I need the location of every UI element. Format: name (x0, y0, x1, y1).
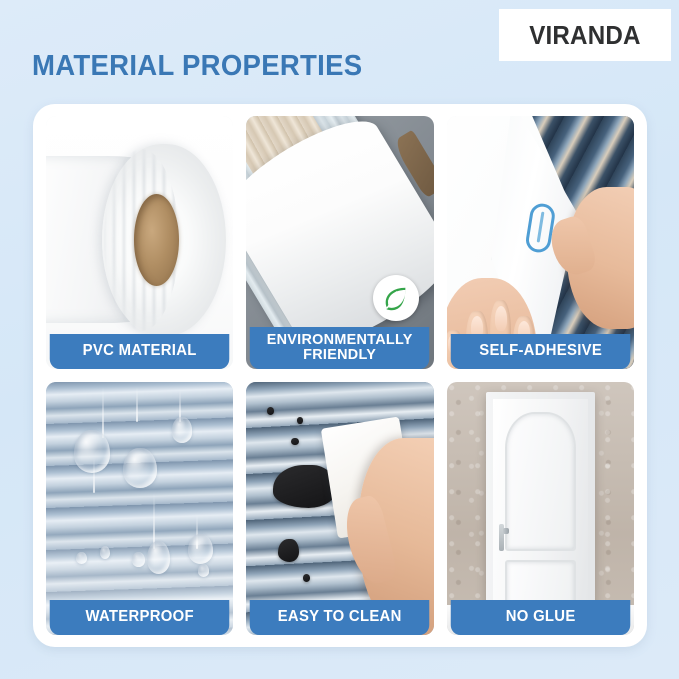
feature-card-waterproof[interactable]: WATERPROOF (46, 382, 233, 635)
leaf-icon (381, 283, 411, 313)
door-handle-icon (499, 524, 504, 551)
easy-to-clean-image (246, 382, 433, 635)
waterproof-image (46, 382, 233, 635)
feature-label-no-glue: NO GLUE (450, 600, 630, 635)
self-adhesive-image (447, 116, 634, 369)
door-frame (486, 392, 595, 625)
feature-card-pvc-material[interactable]: PVC MATERIAL (46, 116, 233, 369)
page-title: MATERIAL PROPERTIES (32, 50, 362, 83)
pvc-roll-image (46, 116, 233, 369)
feature-label-self-adhesive: SELF-ADHESIVE (450, 334, 630, 369)
feature-card-environmentally-friendly[interactable]: ENVIRONMENTALLY FRIENDLY (246, 116, 433, 369)
feature-card-easy-to-clean[interactable]: EASY TO CLEAN (246, 382, 433, 635)
feature-card-self-adhesive[interactable]: SELF-ADHESIVE (447, 116, 634, 369)
brand-logo-box: VIRANDA (499, 9, 671, 61)
features-grid: PVC MATERIAL (46, 116, 634, 635)
eco-leaf-badge (373, 275, 419, 321)
door-leaf (493, 399, 589, 622)
feature-label-easy-to-clean: EASY TO CLEAN (250, 600, 430, 635)
feature-card-no-glue[interactable]: NO GLUE (447, 382, 634, 635)
no-glue-door-image (447, 382, 634, 635)
features-panel: PVC MATERIAL (33, 104, 647, 647)
feature-label-pvc-material: PVC MATERIAL (50, 334, 230, 369)
feature-label-waterproof: WATERPROOF (50, 600, 230, 635)
brand-logo-text: VIRANDA (529, 20, 640, 51)
feature-label-environmentally-friendly: ENVIRONMENTALLY FRIENDLY (250, 327, 430, 369)
